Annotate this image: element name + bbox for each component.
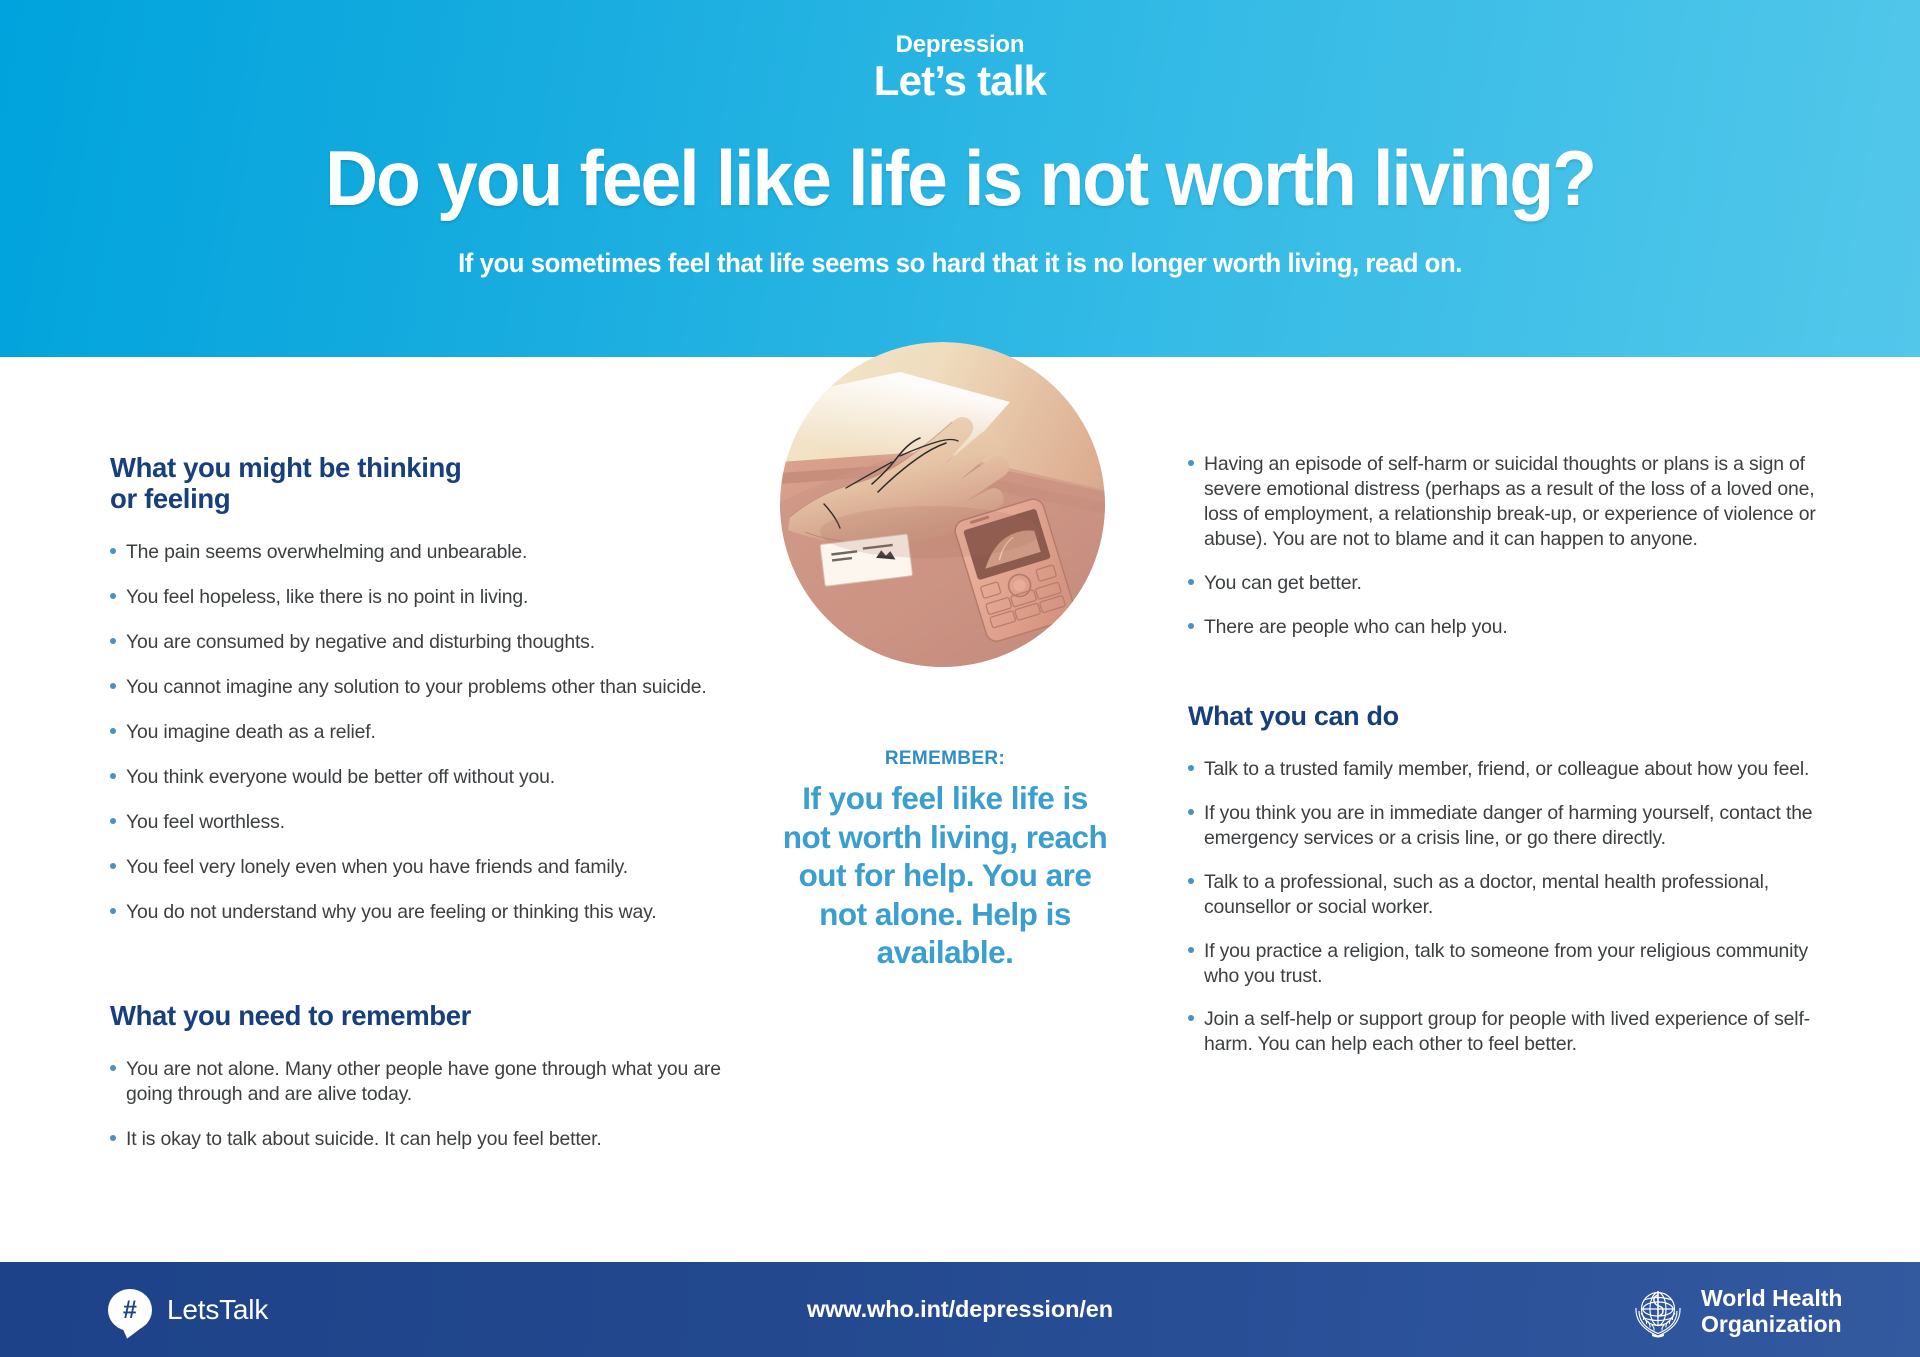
section-title-line-1: What you might be thinking (110, 452, 750, 483)
brand-slogan: Let’s talk (0, 59, 1920, 103)
list-item: Join a self-help or support group for pe… (1188, 1007, 1848, 1057)
list-item: You imagine death as a relief. (110, 720, 750, 745)
who-logo: World Health Organization (1628, 1282, 1842, 1342)
page-title: Do you feel like life is not worth livin… (58, 133, 1863, 224)
list-item: You feel hopeless, like there is no poin… (110, 585, 750, 610)
list-item: There are people who can help you. (1188, 615, 1848, 640)
list-item: You cannot imagine any solution to your … (110, 675, 750, 700)
list-item: Having an episode of self-harm or suicid… (1188, 452, 1848, 552)
campaign-brand: Depression Let’s talk (0, 32, 1920, 103)
who-emblem-icon (1628, 1282, 1688, 1342)
list-item: You feel worthless. (110, 810, 750, 835)
list-item: You think everyone would be better off w… (110, 765, 750, 790)
facts-list: Having an episode of self-harm or suicid… (1188, 452, 1848, 640)
list-item: You are not alone. Many other people hav… (110, 1057, 750, 1107)
remember-message: If you feel like life is not worth livin… (775, 779, 1115, 972)
section-title-thinking-or-feeling: What you might be thinking or feeling (110, 452, 750, 514)
need-to-remember-list: You are not alone. Many other people hav… (110, 1057, 750, 1152)
brand-topic: Depression (0, 32, 1920, 57)
list-item: It is okay to talk about suicide. It can… (110, 1127, 750, 1152)
remember-callout: REMEMBER: If you feel like life is not w… (775, 748, 1115, 972)
list-item: You can get better. (1188, 571, 1848, 596)
list-item: Talk to a professional, such as a doctor… (1188, 870, 1848, 920)
who-name: World Health Organization (1701, 1286, 1842, 1338)
section-spacer (110, 944, 750, 1000)
remember-label: REMEMBER: (775, 748, 1115, 770)
hand-reaching-for-phone-illustration (780, 342, 1105, 667)
what-you-can-do-list: Talk to a trusted family member, friend,… (1188, 757, 1848, 1057)
list-item: You feel very lonely even when you have … (110, 855, 750, 880)
who-name-line-1: World Health (1701, 1286, 1842, 1312)
speech-bubble-tail (119, 1325, 142, 1341)
list-item: You do not understand why you are feelin… (110, 900, 750, 925)
list-item: If you practice a religion, talk to some… (1188, 939, 1848, 989)
right-content-column: Having an episode of self-harm or suicid… (1188, 452, 1848, 1076)
section-spacer (1188, 659, 1848, 701)
list-item: The pain seems overwhelming and unbearab… (110, 540, 750, 565)
poster-header: Depression Let’s talk Do you feel like l… (0, 0, 1920, 357)
section-title-what-you-can-do: What you can do (1188, 701, 1848, 732)
section-title-line-2: or feeling (110, 483, 750, 514)
thinking-or-feeling-list: The pain seems overwhelming and unbearab… (110, 540, 750, 924)
left-content-column: What you might be thinking or feeling Th… (110, 452, 750, 1172)
who-name-line-2: Organization (1701, 1312, 1842, 1338)
list-item: If you think you are in immediate danger… (1188, 801, 1848, 851)
list-item: You are consumed by negative and disturb… (110, 630, 750, 655)
list-item: Talk to a trusted family member, friend,… (1188, 757, 1848, 782)
page-subtitle: If you sometimes feel that life seems so… (29, 248, 1891, 279)
section-title-need-to-remember: What you need to remember (110, 1000, 750, 1031)
illustration-svg (780, 342, 1105, 667)
